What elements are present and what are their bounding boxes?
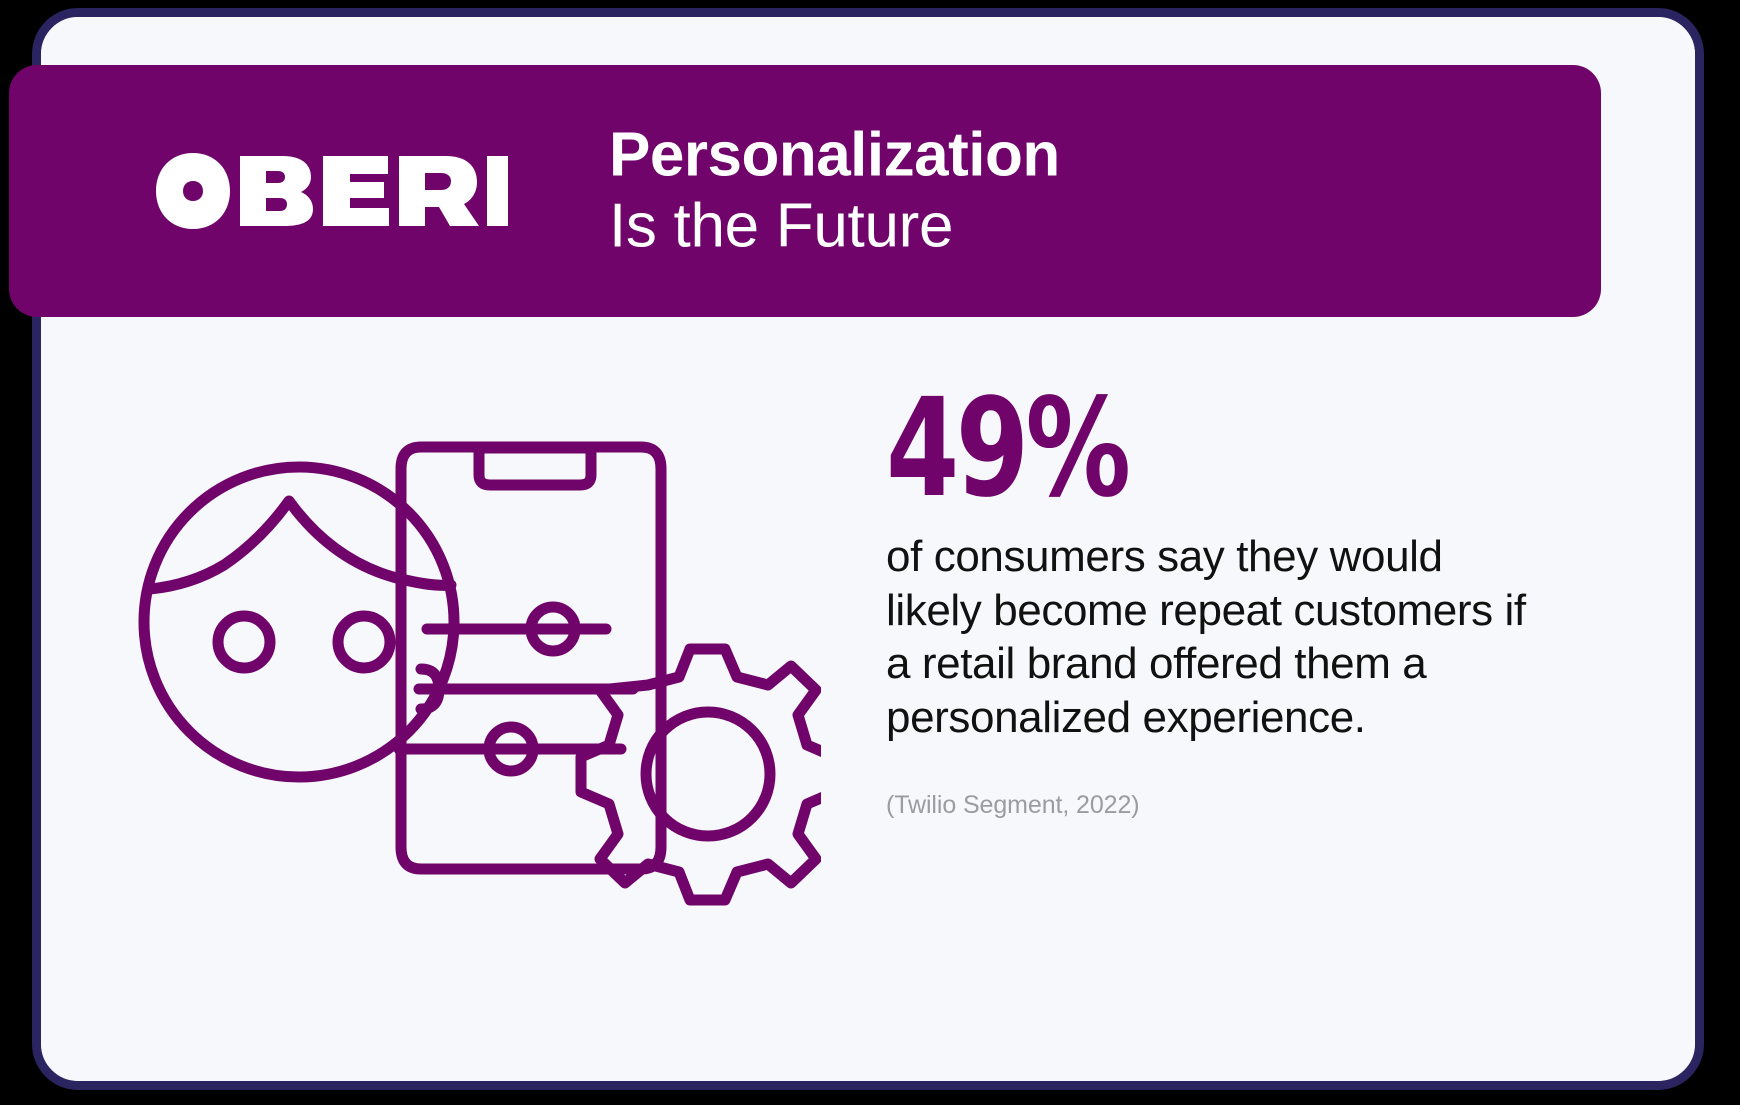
gear-icon [581, 649, 821, 900]
smartphone-outline [401, 447, 661, 869]
smartphone-notch [479, 448, 591, 485]
face-eye-right [338, 616, 390, 668]
stat-value: 49% [886, 387, 1471, 512]
header-band: Personalization Is the Future [9, 65, 1601, 317]
title-line-one: Personalization [609, 120, 1060, 191]
face-eye-left [218, 616, 270, 668]
oberlo-logo [156, 153, 508, 229]
title-line-two: Is the Future [609, 191, 1060, 262]
stat-source-attribution: (Twilio Segment, 2022) [886, 791, 1566, 820]
header-title: Personalization Is the Future [609, 120, 1060, 261]
statistic-block: 49% of consumers say they would likely b… [886, 387, 1566, 820]
oberlo-wordmark-icon [156, 153, 508, 229]
personalization-illustration [121, 417, 821, 917]
card-body: 49% of consumers say they would likely b… [41, 317, 1695, 1081]
infographic-card: 49% of consumers say they would likely b… [32, 8, 1704, 1090]
stat-description: of consumers say they would likely becom… [886, 530, 1546, 745]
infographic-canvas: 49% of consumers say they would likely b… [0, 0, 1740, 1105]
